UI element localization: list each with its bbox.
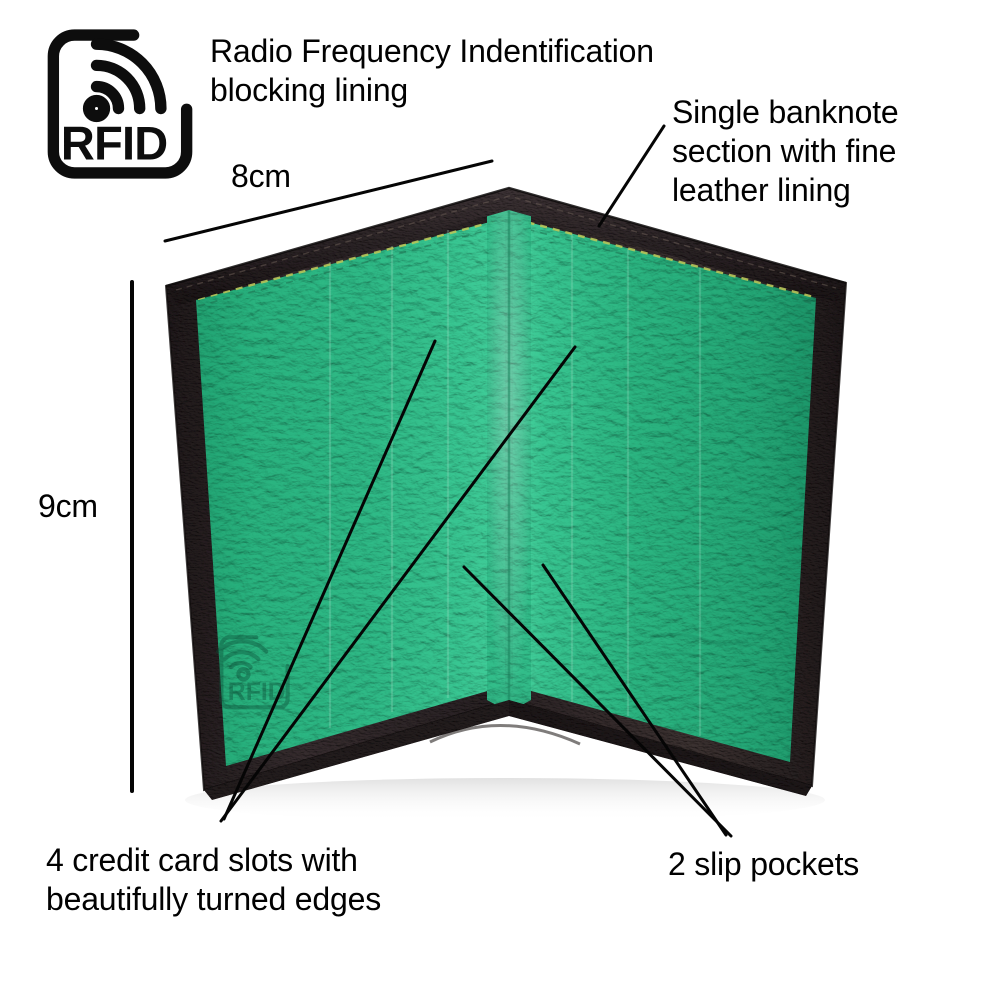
wallet-shadow xyxy=(185,778,825,822)
svg-text:RFID: RFID xyxy=(228,679,286,706)
dimension-label-height: 9cm xyxy=(38,488,98,525)
annotation-banknote-section: Single banknote section with fine leathe… xyxy=(672,93,992,210)
wallet-right-lining xyxy=(513,218,816,762)
infographic-canvas: RFID · xyxy=(0,0,1000,1000)
rfid-badge-label: RFID xyxy=(61,116,167,169)
annotation-slip-pockets: 2 slip pockets xyxy=(668,845,988,884)
dimension-label-width: 8cm xyxy=(231,158,291,195)
rfid-badge-icon: RFID xyxy=(44,26,196,182)
annotation-card-slots: 4 credit card slots with beautifully tur… xyxy=(46,841,516,919)
